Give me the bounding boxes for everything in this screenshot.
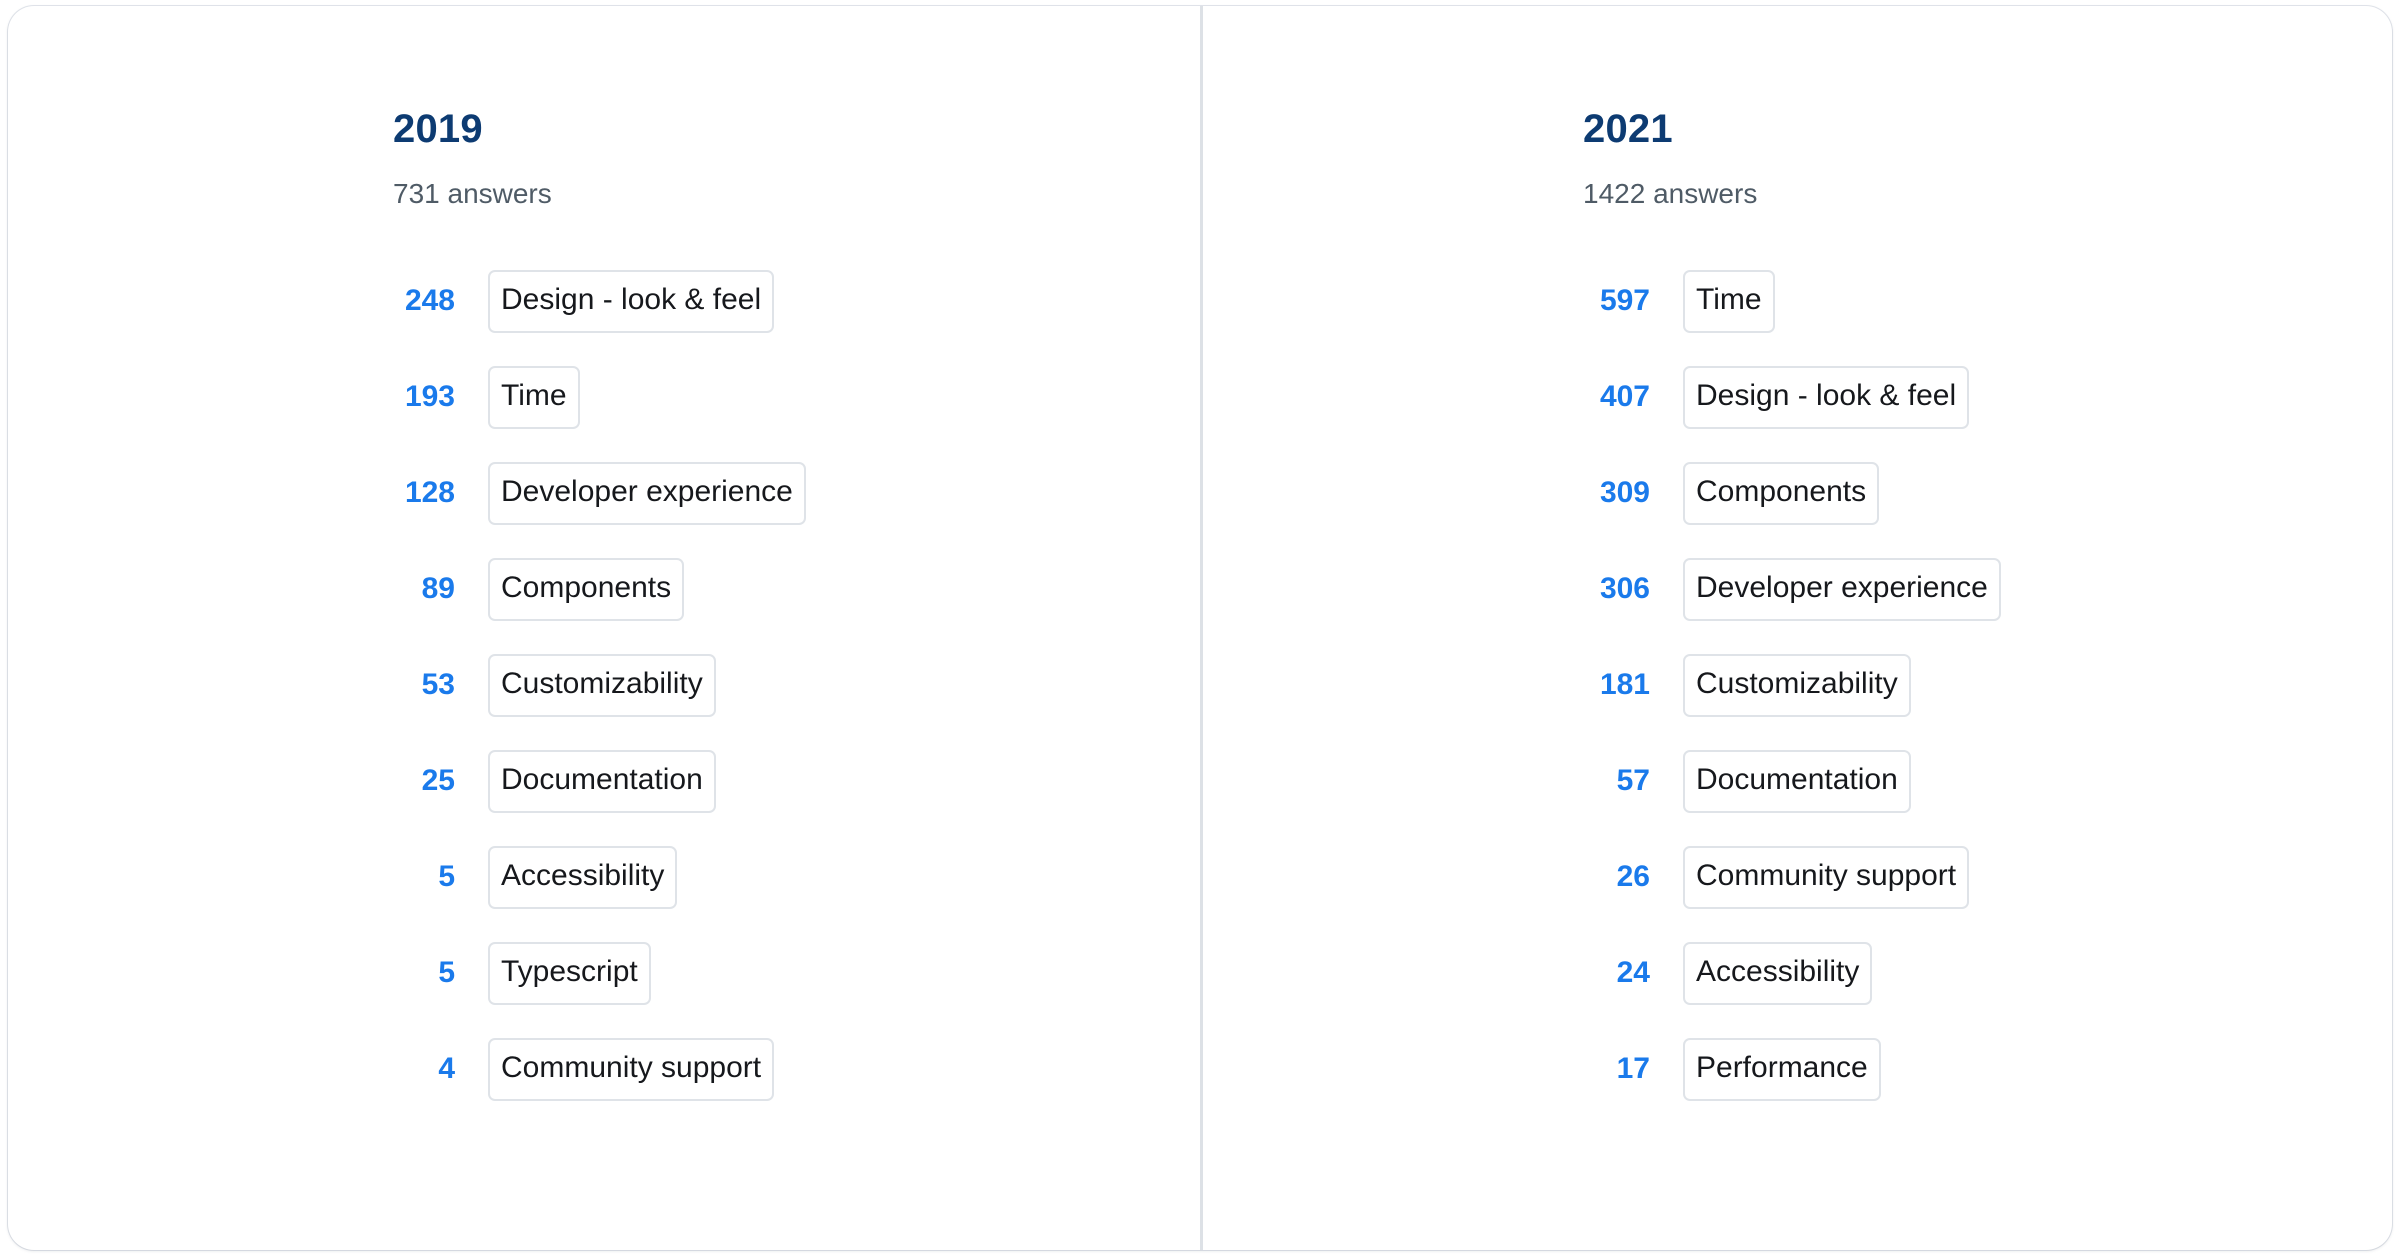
row-count: 128	[393, 478, 488, 508]
row-label-pill[interactable]: Documentation	[1683, 750, 1911, 813]
year-heading: 2019	[393, 109, 1200, 149]
row-count: 24	[1583, 958, 1683, 988]
row-label-pill[interactable]: Time	[488, 366, 580, 429]
list-item: 26 Community support	[1583, 829, 2392, 925]
comparison-card: 2019 731 answers 248 Design - look & fee…	[8, 6, 2392, 1250]
row-count: 597	[1583, 286, 1683, 316]
row-label-pill[interactable]: Customizability	[1683, 654, 1911, 717]
results-list: 597 Time 407 Design - look & feel 309 Co…	[1583, 208, 2392, 1117]
list-item: 53 Customizability	[393, 637, 1200, 733]
row-count: 53	[393, 670, 488, 700]
row-label-pill[interactable]: Documentation	[488, 750, 716, 813]
list-item: 181 Customizability	[1583, 637, 2392, 733]
row-label-pill[interactable]: Design - look & feel	[1683, 366, 1969, 429]
row-count: 25	[393, 766, 488, 796]
row-count: 89	[393, 574, 488, 604]
row-count: 4	[393, 1054, 488, 1084]
list-item: 57 Documentation	[1583, 733, 2392, 829]
row-label-pill[interactable]: Accessibility	[1683, 942, 1872, 1005]
panel-2019: 2019 731 answers 248 Design - look & fee…	[8, 6, 1200, 1250]
row-count: 181	[1583, 670, 1683, 700]
year-heading: 2021	[1583, 109, 2392, 149]
row-count: 5	[393, 958, 488, 988]
row-label-pill[interactable]: Typescript	[488, 942, 651, 1005]
list-item: 248 Design - look & feel	[393, 253, 1200, 349]
row-label-pill[interactable]: Design - look & feel	[488, 270, 774, 333]
row-label-pill[interactable]: Developer experience	[1683, 558, 2001, 621]
answers-count: 1422 answers	[1583, 149, 2392, 208]
row-count: 309	[1583, 478, 1683, 508]
row-count: 57	[1583, 766, 1683, 796]
list-item: 4 Community support	[393, 1021, 1200, 1117]
list-item: 5 Accessibility	[393, 829, 1200, 925]
row-label-pill[interactable]: Community support	[488, 1038, 774, 1101]
row-label-pill[interactable]: Customizability	[488, 654, 716, 717]
panel-2021: 2021 1422 answers 597 Time 407 Design - …	[1200, 6, 2392, 1250]
row-count: 248	[393, 286, 488, 316]
answers-count: 731 answers	[393, 149, 1200, 208]
list-item: 89 Components	[393, 541, 1200, 637]
list-item: 17 Performance	[1583, 1021, 2392, 1117]
row-count: 26	[1583, 862, 1683, 892]
row-label-pill[interactable]: Developer experience	[488, 462, 806, 525]
panel-content: 2019 731 answers 248 Design - look & fee…	[8, 6, 1200, 1117]
list-item: 597 Time	[1583, 253, 2392, 349]
row-label-pill[interactable]: Accessibility	[488, 846, 677, 909]
row-label-pill[interactable]: Components	[1683, 462, 1879, 525]
list-item: 193 Time	[393, 349, 1200, 445]
row-count: 5	[393, 862, 488, 892]
list-item: 25 Documentation	[393, 733, 1200, 829]
row-count: 17	[1583, 1054, 1683, 1084]
row-label-pill[interactable]: Time	[1683, 270, 1775, 333]
row-count: 306	[1583, 574, 1683, 604]
results-list: 248 Design - look & feel 193 Time 128 De…	[393, 208, 1200, 1117]
list-item: 309 Components	[1583, 445, 2392, 541]
row-label-pill[interactable]: Performance	[1683, 1038, 1881, 1101]
list-item: 306 Developer experience	[1583, 541, 2392, 637]
list-item: 24 Accessibility	[1583, 925, 2392, 1021]
list-item: 407 Design - look & feel	[1583, 349, 2392, 445]
list-item: 128 Developer experience	[393, 445, 1200, 541]
row-label-pill[interactable]: Components	[488, 558, 684, 621]
row-count: 193	[393, 382, 488, 412]
row-label-pill[interactable]: Community support	[1683, 846, 1969, 909]
panel-content: 2021 1422 answers 597 Time 407 Design - …	[1203, 6, 2392, 1117]
list-item: 5 Typescript	[393, 925, 1200, 1021]
row-count: 407	[1583, 382, 1683, 412]
